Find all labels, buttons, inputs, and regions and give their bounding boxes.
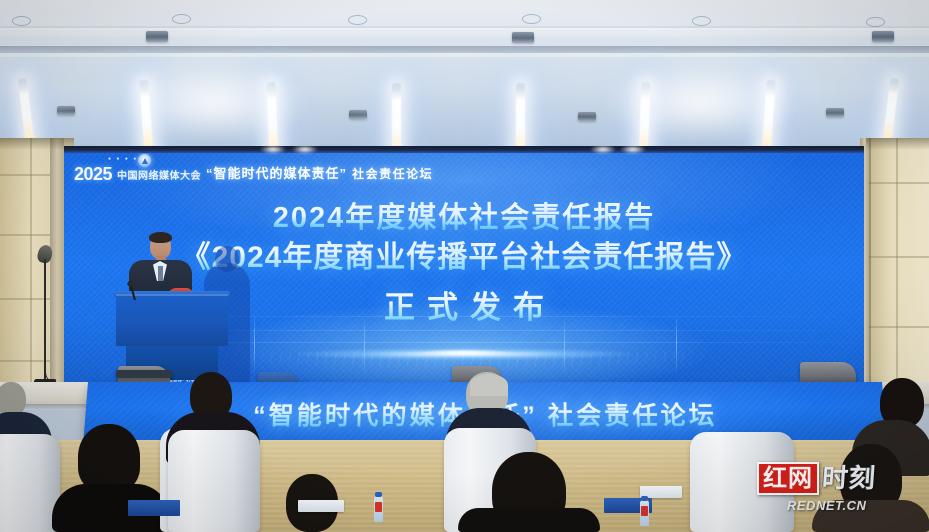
- stage-monitor-base: [116, 370, 172, 378]
- led-frame-highlight: [590, 146, 616, 154]
- header-organization: 中国网络媒体大会: [117, 171, 201, 182]
- podium-front-panel: 2025 中国网络媒体大会 “智能时代的媒体责任” 社会责任论坛: [116, 294, 228, 346]
- ceiling-lamp-fixture: [349, 110, 367, 119]
- floor-microphone-stand: [34, 245, 56, 397]
- wall-panel-right: [866, 138, 929, 400]
- header-forum: 社会责任论坛: [352, 165, 433, 182]
- ceiling-vent-icon: [172, 14, 191, 24]
- podium-with-speaker: 2025 中国网络媒体大会 “智能时代的媒体责任” 社会责任论坛: [112, 228, 232, 382]
- led-frame-highlight: [260, 146, 286, 154]
- watermark-logo-row: 红网 时刻: [757, 462, 917, 495]
- speaker-tie: [158, 266, 163, 281]
- led-screen-top-frame: [64, 146, 864, 153]
- wall-seam: [866, 182, 929, 184]
- ceiling-vent-icon: [348, 15, 367, 25]
- ceiling-glow: [120, 60, 310, 144]
- water-bottle-cap: [375, 492, 382, 497]
- ceiling-lamp-fixture: [872, 31, 894, 42]
- desk-document: [128, 500, 180, 516]
- audience-head: [78, 424, 140, 492]
- ceiling-vent-icon: [522, 14, 541, 24]
- ceiling-lamp-fixture: [578, 112, 596, 121]
- ceiling-vent-icon: [12, 16, 31, 26]
- wall-seam: [30, 138, 32, 400]
- desk-name-card: [298, 500, 344, 512]
- header-year: 2025: [74, 165, 112, 183]
- water-bottle-cap: [641, 496, 648, 501]
- audience-head: [0, 382, 26, 416]
- ceiling-lamp-fixture: [826, 108, 844, 117]
- wall-shadow: [0, 138, 74, 150]
- ceiling-lamp-fixture: [146, 31, 168, 42]
- ceiling-beam: [0, 46, 929, 53]
- ceiling-seam: [0, 53, 929, 57]
- rednet-watermark: 红网 时刻 REDNET.CN: [757, 462, 917, 518]
- wall-seam: [866, 326, 929, 328]
- ceiling-lamp-fixture: [57, 106, 75, 115]
- wall-seam: [896, 138, 898, 400]
- ceiling-lamp-fixture: [512, 32, 534, 43]
- audience-head: [470, 374, 508, 396]
- ceiling-glow: [600, 60, 800, 144]
- watermark-url: REDNET.CN: [787, 498, 917, 513]
- audience-chair: [168, 430, 260, 532]
- ceiling-seam: [0, 28, 929, 38]
- water-bottle: [374, 496, 383, 522]
- watermark-badge: 红网: [757, 462, 819, 495]
- led-light-burst-core: [419, 349, 509, 356]
- ceiling-vent-icon: [866, 17, 885, 27]
- header-theme: “智能时代的媒体责任”: [206, 163, 347, 182]
- audience-chair: [0, 434, 60, 532]
- speaker-hair: [149, 232, 172, 243]
- watermark-wordmark: 时刻: [821, 466, 877, 492]
- ceiling-vent-icon: [692, 16, 711, 26]
- led-frame-highlight: [292, 146, 318, 154]
- led-header-lockup: ● ● ● ● 2025 中国网络媒体大会 “智能时代的媒体责任” 社会责任论坛: [74, 164, 433, 183]
- header-dots: ● ● ● ●: [108, 156, 138, 162]
- wall-seam: [866, 256, 929, 258]
- ceiling: [0, 0, 929, 152]
- audience-shoulders: [458, 508, 600, 532]
- conference-emblem-icon: [138, 154, 151, 167]
- led-frame-highlight: [620, 146, 646, 154]
- wall-shadow: [866, 138, 929, 150]
- conference-photo-scene: ● ● ● ● 2025 中国网络媒体大会 “智能时代的媒体责任” 社会责任论坛…: [0, 0, 929, 532]
- water-bottle: [640, 500, 649, 526]
